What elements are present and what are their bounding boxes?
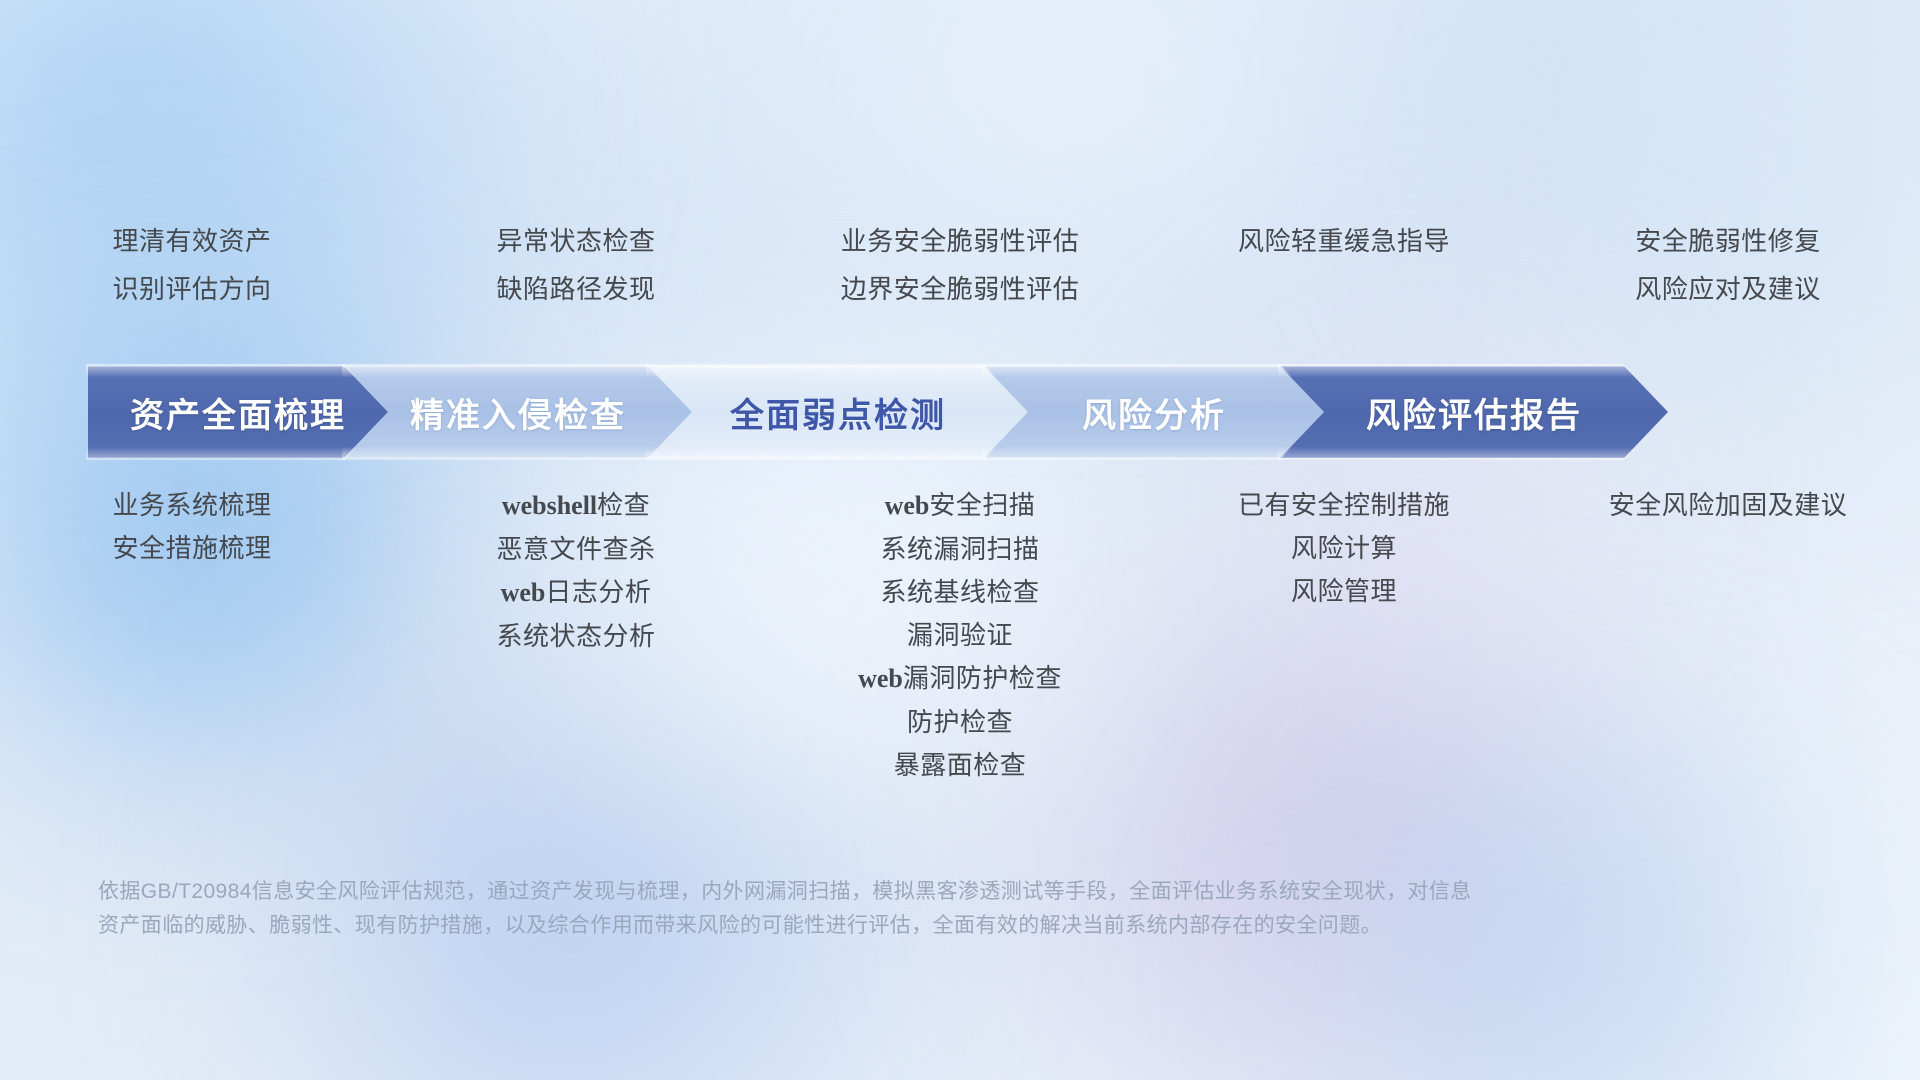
- footer-note-line-1: 依据GB/T20984信息安全风险评估规范，通过资产发现与梳理，内外网漏洞扫描，…: [98, 875, 1628, 909]
- chevron-label: 资产全面梳理: [130, 388, 346, 437]
- stage-top-captions-2: 异常状态检查 缺陷路径发现: [384, 228, 768, 348]
- list-item: 系统状态分析: [496, 623, 655, 649]
- stage-top-captions-1: 理清有效资产 识别评估方向: [0, 228, 384, 348]
- list-item: webshell检查: [502, 492, 650, 519]
- footer-note: 依据GB/T20984信息安全风险评估规范，通过资产发现与梳理，内外网漏洞扫描，…: [98, 875, 1628, 943]
- chevron-label: 风险分析: [1082, 388, 1226, 437]
- list-item: 暴露面检查: [894, 752, 1027, 778]
- list-item: web漏洞防护检查: [858, 665, 1062, 692]
- stage-bottom-lists-row: 业务系统梳理 安全措施梳理 webshell检查 恶意文件查杀 web日志分析 …: [0, 492, 1920, 778]
- process-chevron-band: 资产全面梳理 精准入侵检查 全面弱点检测 风险分析 风险评估报告: [88, 366, 1858, 458]
- chevron-label: 精准入侵检查: [410, 388, 626, 437]
- process-diagram: 理清有效资产 识别评估方向 异常状态检查 缺陷路径发现 业务安全脆弱性评估 边界…: [0, 0, 1920, 1080]
- chevron-stage-5[interactable]: 风险评估报告: [1280, 366, 1668, 458]
- caption-text: 风险应对及建议: [1635, 276, 1821, 302]
- list-item: 防护检查: [907, 709, 1013, 735]
- list-item: 风险计算: [1291, 535, 1397, 561]
- stage-bottom-list-5: 安全风险加固及建议: [1536, 492, 1920, 518]
- caption-text: 理清有效资产: [112, 228, 271, 254]
- chevron-stage-4[interactable]: 风险分析: [984, 366, 1324, 458]
- stage-top-captions-5: 安全脆弱性修复 风险应对及建议: [1536, 228, 1920, 348]
- list-item: 恶意文件查杀: [496, 536, 655, 562]
- caption-text: 业务安全脆弱性评估: [841, 228, 1080, 254]
- stage-bottom-list-4: 已有安全控制措施 风险计算 风险管理: [1152, 492, 1536, 604]
- stage-bottom-list-3: web安全扫描 系统漏洞扫描 系统基线检查 漏洞验证 web漏洞防护检查 防护检…: [768, 492, 1152, 778]
- list-item: web日志分析: [501, 579, 652, 606]
- caption-text: 异常状态检查: [496, 228, 655, 254]
- list-item: 已有安全控制措施: [1238, 492, 1450, 518]
- list-item: web安全扫描: [885, 492, 1036, 519]
- chevron-label: 全面弱点检测: [730, 388, 946, 437]
- caption-text: 安全脆弱性修复: [1635, 228, 1821, 254]
- stage-top-captions-4: 风险轻重缓急指导: [1152, 228, 1536, 348]
- caption-text: 识别评估方向: [112, 276, 271, 302]
- list-item: 安全措施梳理: [112, 535, 271, 561]
- stage-top-captions-3: 业务安全脆弱性评估 边界安全脆弱性评估: [768, 228, 1152, 348]
- list-item: 安全风险加固及建议: [1609, 492, 1848, 518]
- caption-text: 缺陷路径发现: [496, 276, 655, 302]
- list-item: 风险管理: [1291, 578, 1397, 604]
- caption-text: 风险轻重缓急指导: [1238, 228, 1450, 254]
- stage-top-captions-row: 理清有效资产 识别评估方向 异常状态检查 缺陷路径发现 业务安全脆弱性评估 边界…: [0, 228, 1920, 348]
- chevron-stage-3[interactable]: 全面弱点检测: [648, 366, 1028, 458]
- footer-note-line-2: 资产面临的威胁、脆弱性、现有防护措施，以及综合作用而带来风险的可能性进行评估，全…: [98, 909, 1628, 943]
- list-item: 漏洞验证: [907, 622, 1013, 648]
- list-item: 系统漏洞扫描: [880, 536, 1039, 562]
- caption-text: 边界安全脆弱性评估: [841, 276, 1080, 302]
- list-item: 系统基线检查: [880, 579, 1039, 605]
- chevron-stage-1[interactable]: 资产全面梳理: [88, 366, 388, 458]
- list-item: 业务系统梳理: [112, 492, 271, 518]
- chevron-stage-2[interactable]: 精准入侵检查: [344, 366, 692, 458]
- chevron-label: 风险评估报告: [1366, 388, 1582, 437]
- stage-bottom-list-1: 业务系统梳理 安全措施梳理: [0, 492, 384, 561]
- stage-bottom-list-2: webshell检查 恶意文件查杀 web日志分析 系统状态分析: [384, 492, 768, 649]
